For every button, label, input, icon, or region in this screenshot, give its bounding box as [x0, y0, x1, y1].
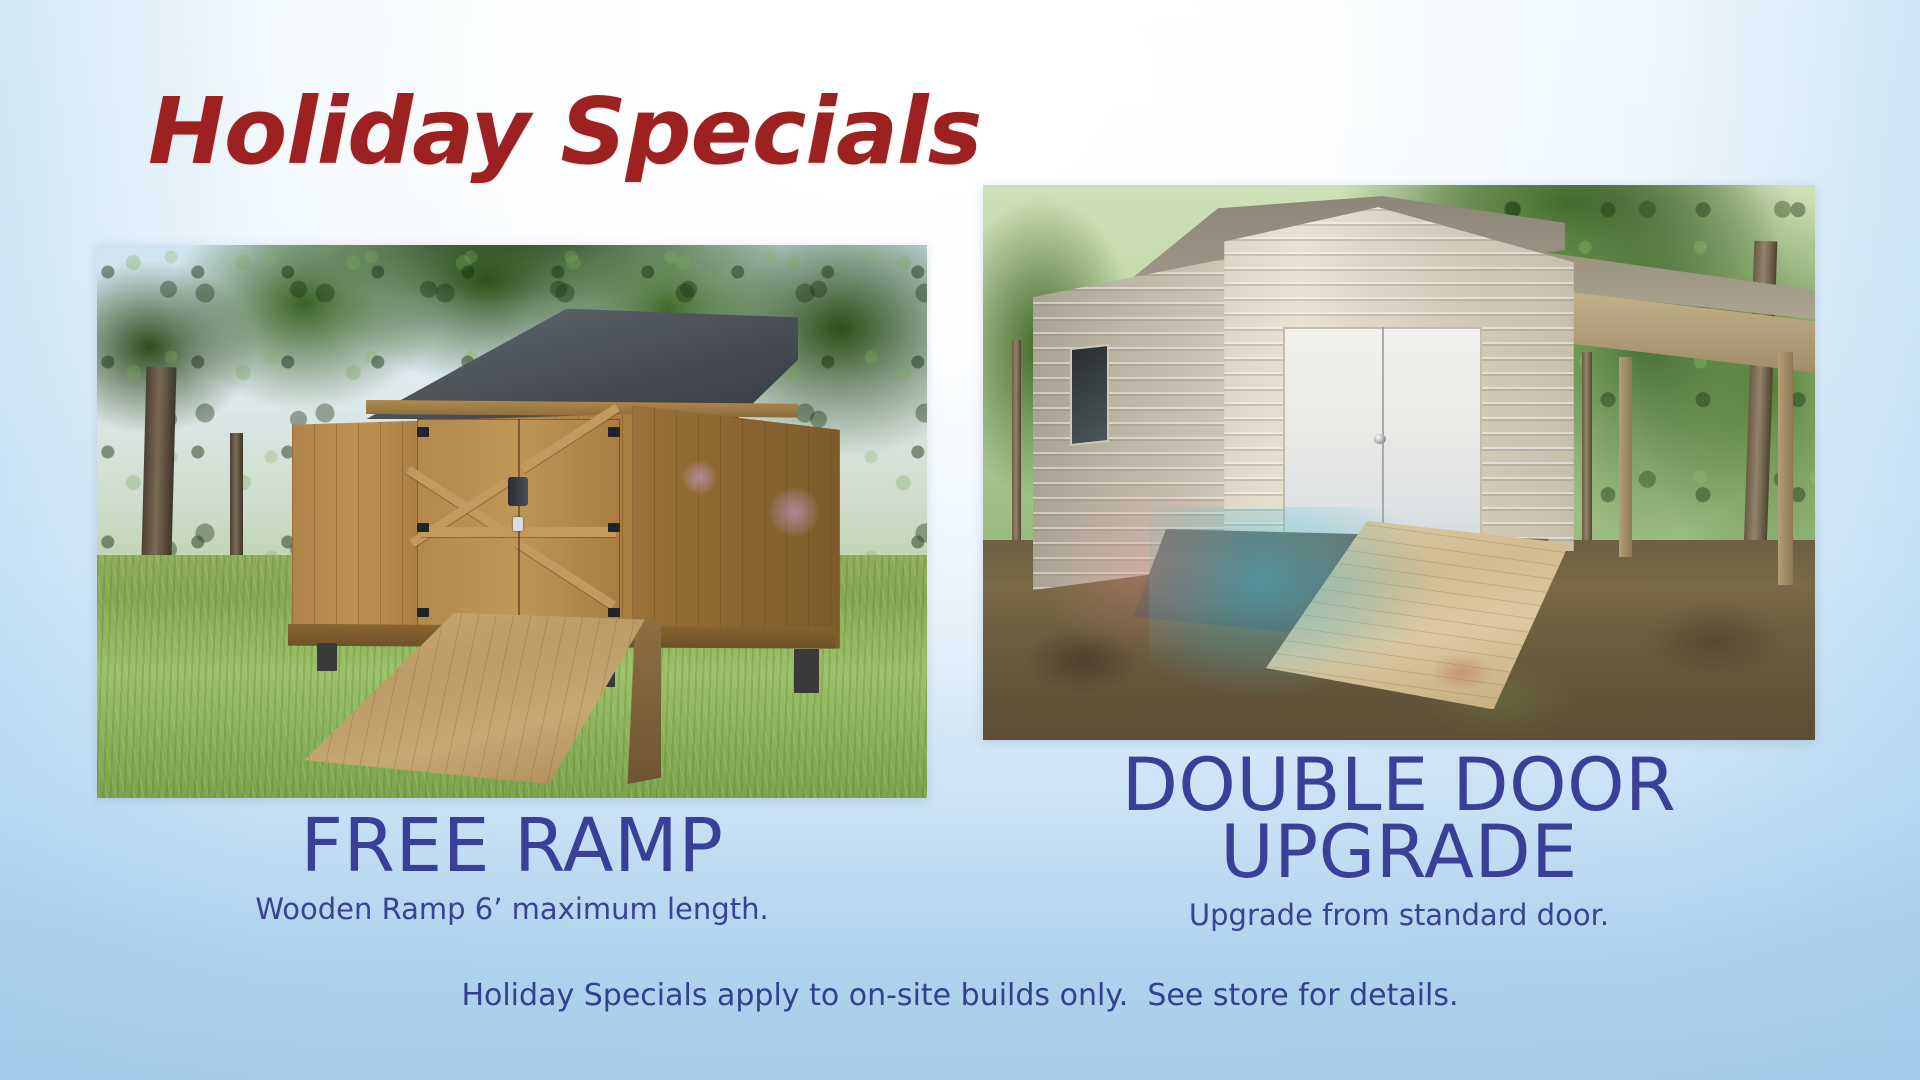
carport-post — [1619, 357, 1631, 557]
photo-double-door — [983, 185, 1815, 740]
door-brace — [410, 478, 511, 548]
door-hinge — [608, 427, 620, 436]
special-headline-free-ramp: FREE RAMP — [97, 812, 927, 880]
special-subtext-free-ramp: Wooden Ramp 6’ maximum length. — [97, 892, 927, 927]
door-latch — [513, 517, 523, 532]
foundation-pier — [317, 643, 337, 671]
special-headline-double-door: DOUBLE DOOR UPGRADE — [983, 752, 1815, 886]
barn-double-doors — [417, 419, 620, 626]
photo-free-ramp — [97, 245, 927, 798]
page-title: Holiday Specials — [148, 86, 981, 178]
special-subtext-double-door: Upgrade from standard door. — [983, 898, 1815, 933]
caption-double-door: DOUBLE DOOR UPGRADE Upgrade from standar… — [983, 752, 1815, 933]
shed-window — [1070, 344, 1109, 446]
disclaimer-text: Holiday Specials apply to on-site builds… — [0, 978, 1920, 1013]
door-brace — [516, 540, 617, 610]
door-hinge — [608, 523, 620, 532]
door-hinge — [608, 608, 620, 617]
shed-side-wall — [632, 405, 840, 648]
door-hinge — [417, 523, 429, 532]
wooden-shed-scene — [97, 245, 927, 798]
plank-texture — [632, 405, 840, 648]
caption-free-ramp: FREE RAMP Wooden Ramp 6’ maximum length. — [97, 812, 927, 927]
door-hinge — [417, 608, 429, 617]
foundation-pier — [794, 649, 819, 693]
metal-shed-scene — [983, 185, 1815, 740]
carport-post — [1778, 352, 1794, 585]
door-knob — [1374, 434, 1386, 444]
door-hinge — [417, 427, 429, 436]
tree-trunk — [1012, 340, 1021, 540]
promo-slide: Holiday Specials — [0, 0, 1920, 1080]
ramp-wood-stain — [1430, 653, 1493, 691]
door-handle — [508, 477, 528, 506]
